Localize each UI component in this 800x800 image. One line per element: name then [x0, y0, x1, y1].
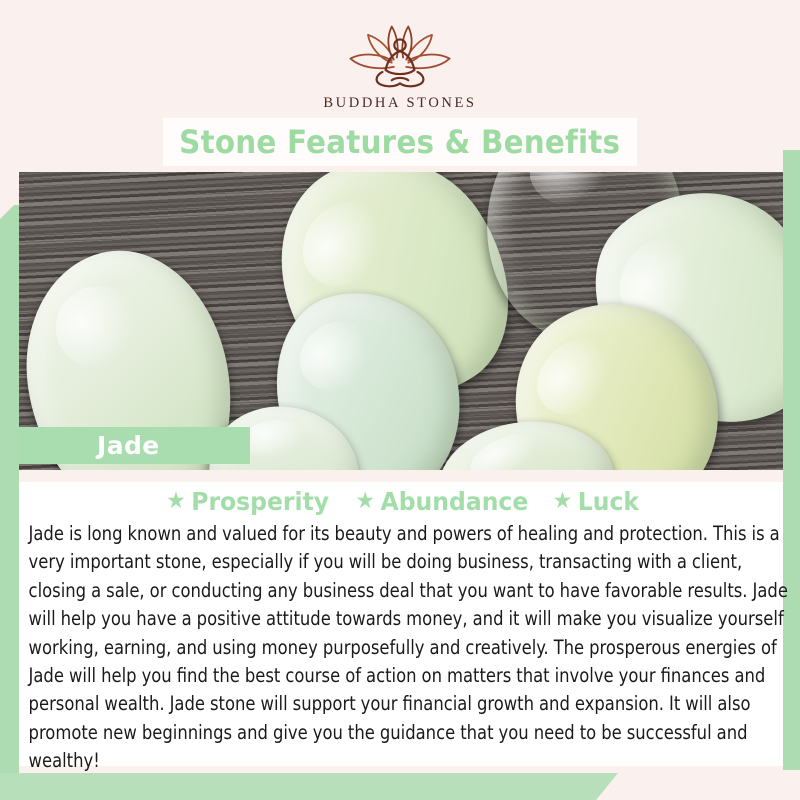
- title-band: Stone Features & Benefits: [163, 118, 637, 166]
- star-icon: ★: [552, 490, 571, 513]
- jade-stones-photo: [19, 172, 783, 470]
- poster-canvas: BUDDHA STONES Stone Features & Benefits …: [0, 0, 800, 800]
- benefit-item-luck: ★ Luck: [552, 487, 638, 516]
- benefit-label: Luck: [577, 487, 638, 516]
- accent-bar-bottom: [0, 773, 618, 800]
- lotus-meditation-figure-icon: [338, 22, 462, 90]
- stone-name-badge: Jade: [19, 427, 250, 464]
- benefit-item-abundance: ★ Abundance: [355, 487, 528, 516]
- content-card: ★ Prosperity ★ Abundance ★ Luck Jade is …: [19, 482, 783, 766]
- benefits-row: ★ Prosperity ★ Abundance ★ Luck: [19, 482, 783, 518]
- benefit-item-prosperity: ★ Prosperity: [166, 487, 329, 516]
- accent-bar-left: [0, 205, 19, 773]
- brand-header: BUDDHA STONES: [0, 22, 800, 112]
- stone-name-label: Jade: [97, 431, 160, 460]
- stone-description: Jade is long known and valued for its be…: [19, 518, 797, 776]
- brand-name: BUDDHA STONES: [0, 95, 800, 112]
- star-icon: ★: [355, 490, 374, 513]
- benefit-label: Prosperity: [191, 487, 329, 516]
- benefit-label: Abundance: [380, 487, 528, 516]
- photo-content-divider: [19, 470, 783, 482]
- star-icon: ★: [166, 490, 185, 513]
- page-title: Stone Features & Benefits: [179, 123, 620, 161]
